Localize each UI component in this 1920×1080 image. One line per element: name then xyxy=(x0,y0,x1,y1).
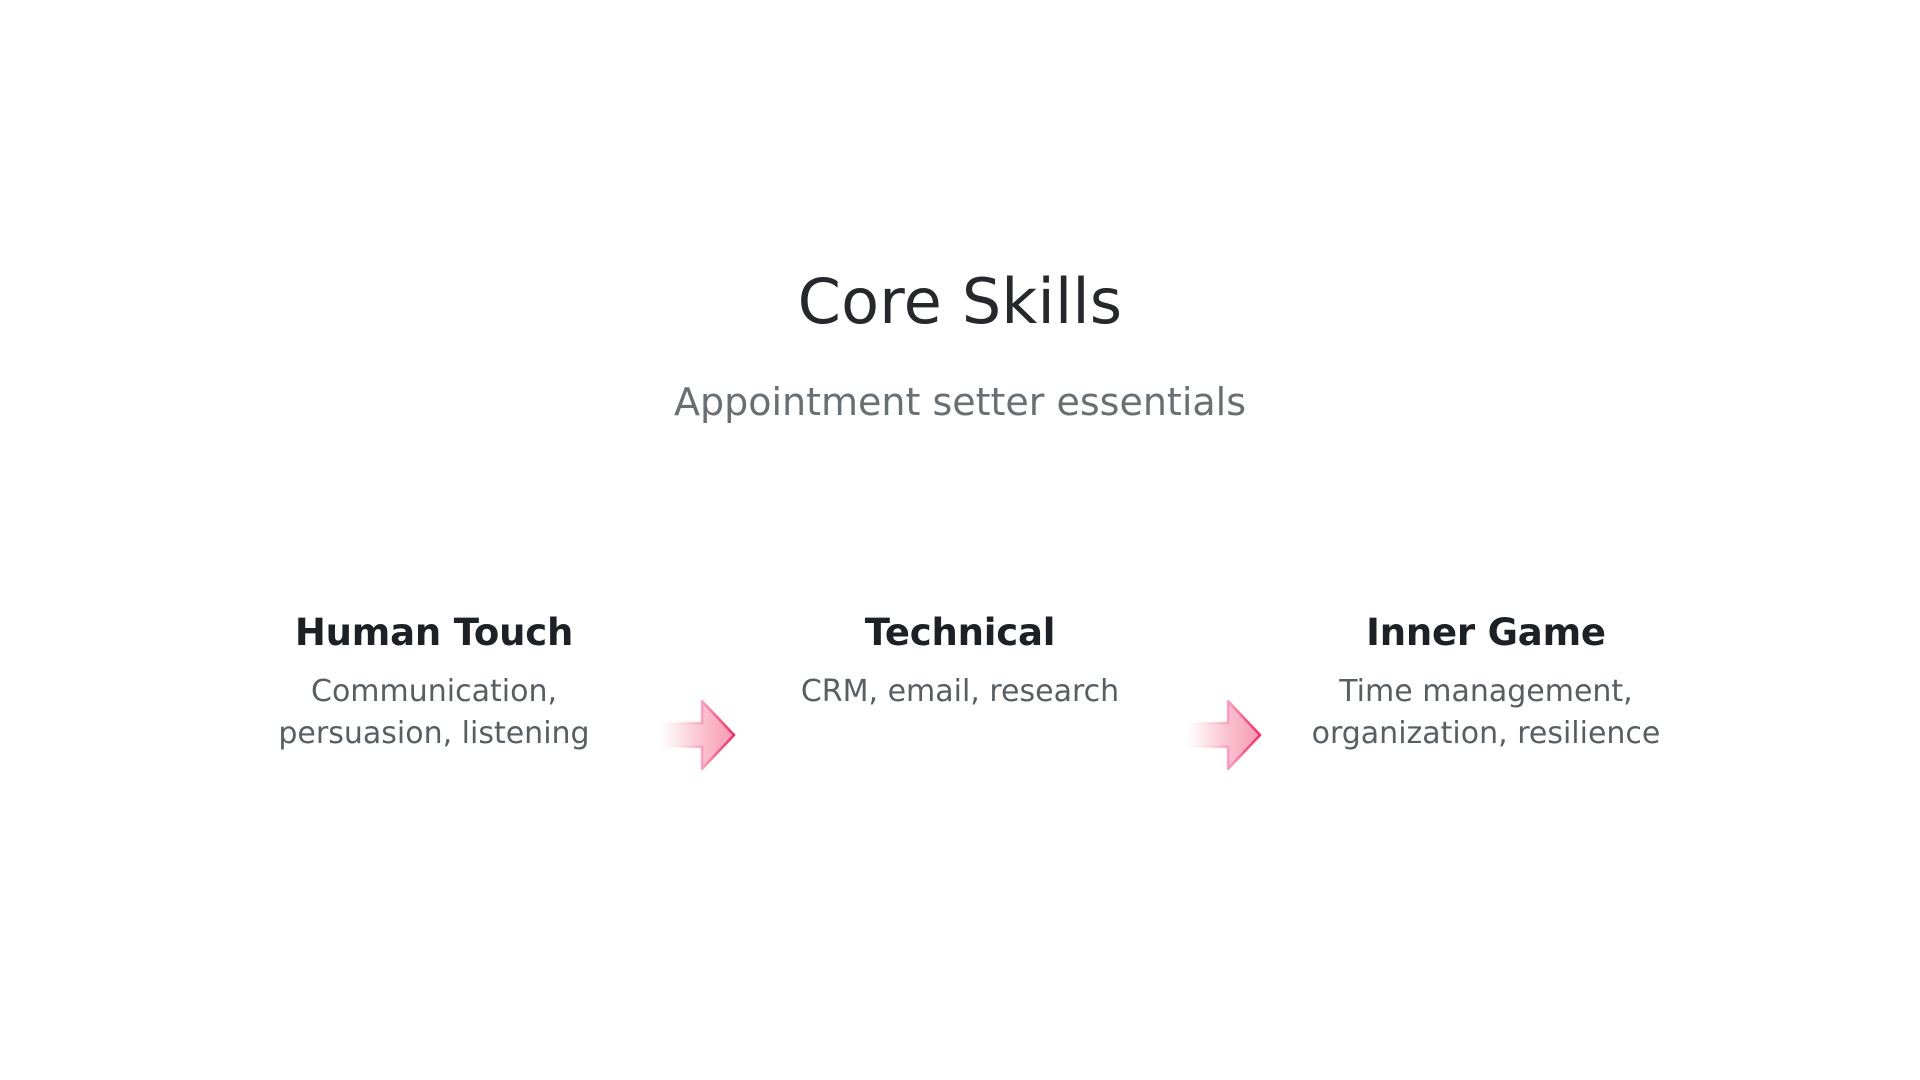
slide-header: Core Skills Appointment setter essential… xyxy=(0,268,1920,426)
flow-connector-1 xyxy=(649,612,745,782)
arrow-right-icon xyxy=(1184,660,1262,734)
flow-step-description: Time management, organization, resilienc… xyxy=(1286,671,1686,754)
flow-step-technical: Technical CRM, email, research xyxy=(745,612,1175,713)
flow-step-title: Inner Game xyxy=(1275,612,1697,653)
flow-step-description: Communication, persuasion, listening xyxy=(234,671,634,754)
flow-step-inner-game: Inner Game Time management, organization… xyxy=(1271,612,1701,754)
flow-step-human-touch: Human Touch Communication, persuasion, l… xyxy=(219,612,649,754)
skills-flow: Human Touch Communication, persuasion, l… xyxy=(0,612,1920,782)
page-subtitle: Appointment setter essentials xyxy=(0,380,1920,426)
flow-step-title: Human Touch xyxy=(223,612,645,653)
slide-canvas: Core Skills Appointment setter essential… xyxy=(0,0,1920,1080)
flow-step-description: CRM, email, research xyxy=(760,671,1160,712)
arrow-right-icon xyxy=(658,660,736,734)
flow-connector-2 xyxy=(1175,612,1271,782)
flow-step-title: Technical xyxy=(749,612,1171,653)
page-title: Core Skills xyxy=(0,268,1920,336)
